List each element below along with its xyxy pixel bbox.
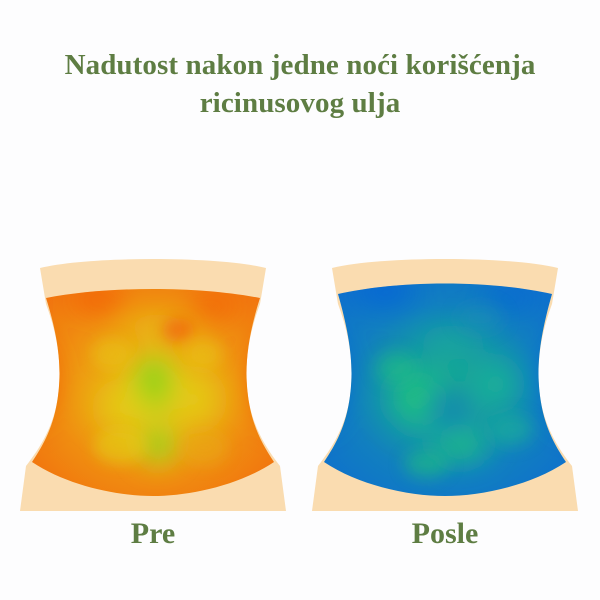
torso-svg-before xyxy=(8,258,298,513)
torso-illustration-after xyxy=(300,258,590,513)
torso-illustration-before xyxy=(8,258,298,513)
title-line-2: ricinusovog ulja xyxy=(0,84,600,122)
caption-after: Posle xyxy=(300,516,590,552)
title-line-1: Nadutost nakon jedne noći korišćenja xyxy=(0,46,600,84)
comparison-panel-before: Pre xyxy=(8,258,298,558)
comparison-panel-after: Posle xyxy=(300,258,590,558)
page-title: Nadutost nakon jedne noći korišćenja ric… xyxy=(0,46,600,122)
before-after-comparison: Pre xyxy=(0,258,600,558)
infographic-page: Nadutost nakon jedne noći korišćenja ric… xyxy=(0,0,600,600)
torso-svg-after xyxy=(300,258,590,513)
caption-before: Pre xyxy=(8,516,298,552)
